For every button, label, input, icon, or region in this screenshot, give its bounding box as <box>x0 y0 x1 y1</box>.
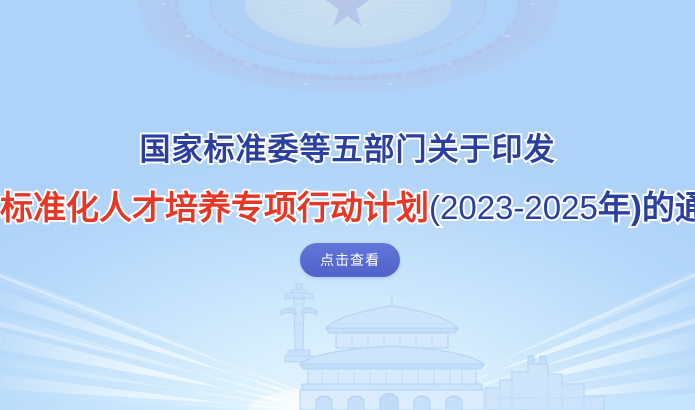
radiating-light-streaks <box>0 260 695 410</box>
emblem-ring-middle <box>209 0 487 65</box>
emblem-dot-pattern <box>138 0 558 104</box>
page-title-line-2: 标准化人才培养专项行动计划(2023-2025年)的通知 <box>0 181 695 229</box>
tiananmen-gate-icon <box>300 296 484 410</box>
view-detail-button[interactable]: 点击查看 <box>300 243 400 277</box>
promo-banner: 国家标准委等五部门关于印发 标准化人才培养专项行动计划(2023-2025年)的… <box>0 0 695 410</box>
title-year-suffix: 年) <box>598 189 642 226</box>
page-title-line-1: 国家标准委等五部门关于印发 <box>0 124 695 169</box>
emblem-outer-glow <box>138 0 558 92</box>
great-wall-icon <box>486 356 604 410</box>
huabiao-column-icon <box>281 284 317 362</box>
emblem-ring-outer <box>174 0 522 80</box>
tiananmen-gate-silhouette <box>0 280 695 410</box>
title-plan-name: 标准化人才培养专项行动计划 <box>0 189 429 226</box>
star-icon <box>325 0 371 29</box>
title-year-range: (2023-2025 <box>429 189 598 226</box>
emblem-inner-disc <box>245 0 451 48</box>
national-emblem-watermark <box>138 0 558 104</box>
title-notice-suffix: 的通知 <box>642 189 695 226</box>
emblem-guilloche-rays <box>273 0 423 36</box>
